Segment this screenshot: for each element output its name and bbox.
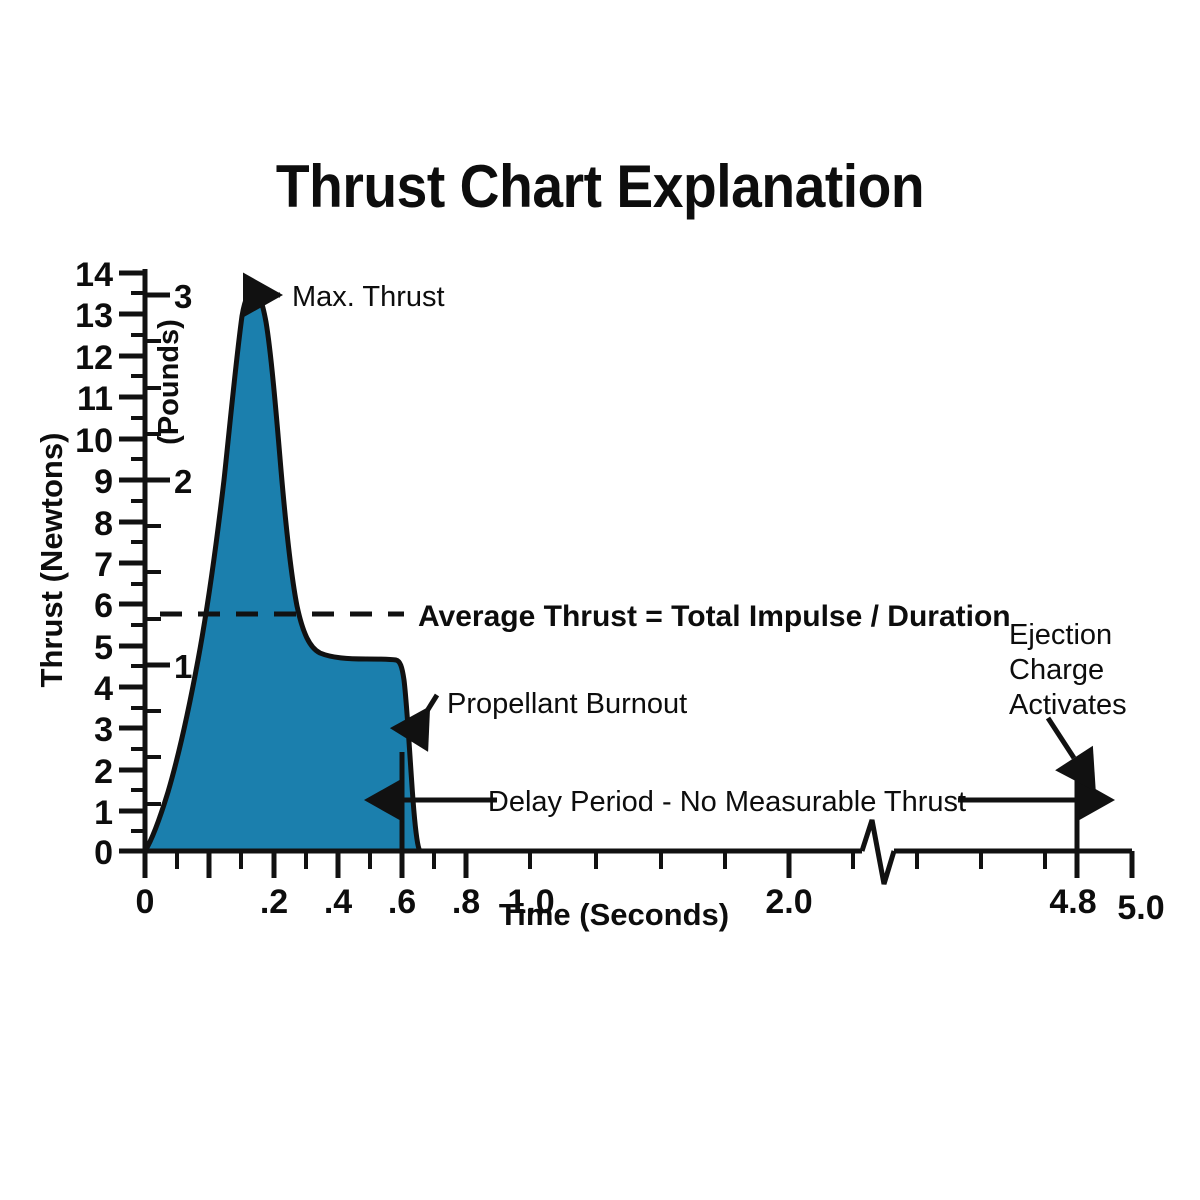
x-tick-20: 2.0: [765, 883, 812, 921]
thrust-chart-page: Thrust Chart Explanation: [0, 0, 1200, 1200]
y-tick-8: 8: [94, 505, 113, 543]
annotation-ejection-charge: Ejection Charge Activates: [1009, 619, 1127, 851]
x-axis-title: Time (Seconds): [499, 897, 729, 932]
annotation-max-thrust: Max. Thrust: [243, 281, 445, 313]
x-tick-50: 5.0: [1117, 889, 1164, 927]
y-axis-newton-labels: 14 13 12 11 10 9 8 7 6 5 4 3 2 1 0: [75, 256, 113, 872]
y-tick-11: 11: [77, 380, 113, 418]
y-axis-right-title: (Pounds): [153, 319, 185, 445]
y-pound-tick-1: 1: [174, 648, 192, 685]
max-thrust-label: Max. Thrust: [292, 281, 445, 313]
x-tick-0: 0: [136, 883, 155, 921]
ejection-charge-label-line3: Activates: [1009, 689, 1127, 721]
thrust-curve-fill: [145, 291, 422, 851]
annotation-propellant-burnout: Propellant Burnout: [402, 688, 687, 852]
y-tick-3: 3: [94, 711, 113, 749]
y-tick-10: 10: [75, 422, 113, 460]
y-tick-12: 12: [75, 339, 113, 377]
y-tick-7: 7: [94, 546, 113, 584]
y-axis-left-title: Thrust (Newtons): [34, 433, 69, 688]
x-axis-minor-ticks: [177, 851, 1045, 869]
axis-break-zigzag-icon: [862, 820, 894, 884]
y-axis-newton-major-ticks: [119, 273, 145, 851]
delay-period-label: Delay Period - No Measurable Thrust: [488, 786, 966, 818]
x-tick-48: 4.8: [1049, 883, 1096, 921]
y-tick-9: 9: [94, 463, 113, 501]
y-tick-13: 13: [75, 297, 113, 335]
y-tick-6: 6: [94, 587, 113, 625]
ejection-charge-arrow-icon: [1048, 718, 1074, 758]
x-tick-08: .8: [452, 883, 480, 921]
average-thrust-label: Average Thrust = Total Impulse / Duratio…: [418, 600, 1011, 633]
x-tick-04: .4: [324, 883, 352, 921]
y-tick-1: 1: [94, 794, 113, 832]
ejection-charge-label-line2: Charge: [1009, 654, 1104, 686]
y-pound-tick-3: 3: [174, 278, 192, 315]
propellant-burnout-arrow-icon: [409, 695, 437, 740]
thrust-curve-area: [145, 291, 422, 851]
y-tick-4: 4: [94, 670, 113, 708]
y-tick-2: 2: [94, 753, 113, 791]
annotation-delay-period: Delay Period - No Measurable Thrust: [404, 786, 1075, 818]
y-pound-tick-2: 2: [174, 463, 192, 500]
y-tick-5: 5: [94, 629, 113, 667]
y-tick-0: 0: [94, 834, 113, 872]
thrust-chart-figure: 14 13 12 11 10 9 8 7 6 5 4 3 2 1 0: [0, 0, 1200, 1200]
x-tick-06: .6: [388, 883, 416, 921]
ejection-charge-label-line1: Ejection: [1009, 619, 1112, 651]
propellant-burnout-label: Propellant Burnout: [447, 688, 687, 720]
x-tick-02: .2: [260, 883, 288, 921]
y-tick-14: 14: [75, 256, 113, 294]
x-axis-major-ticks: [145, 851, 1132, 878]
